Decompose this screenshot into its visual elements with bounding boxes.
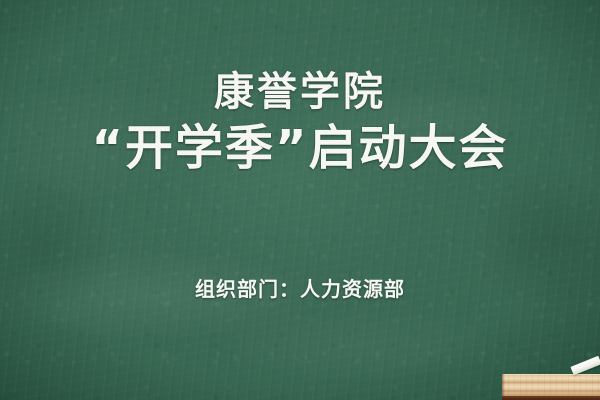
- chalkboard-slide: 康誉学院 “开学季”启动大会 组织部门：人力资源部: [0, 0, 600, 400]
- subtitle: 组织部门：人力资源部: [0, 276, 600, 302]
- page-title: 康誉学院 “开学季”启动大会: [0, 66, 600, 178]
- chalk-tray-shadow: [502, 396, 600, 400]
- subtitle-line: 组织部门：人力资源部: [0, 276, 600, 302]
- title-line-1: 康誉学院: [0, 66, 600, 118]
- chalk-tray: [502, 374, 600, 396]
- chalk-tray-wood-grain: [502, 374, 600, 396]
- slide-text-layer: 康誉学院 “开学季”启动大会 组织部门：人力资源部: [0, 0, 600, 400]
- title-line-2: “开学季”启动大会: [0, 118, 600, 178]
- chalk-tray-left-edge: [502, 374, 505, 396]
